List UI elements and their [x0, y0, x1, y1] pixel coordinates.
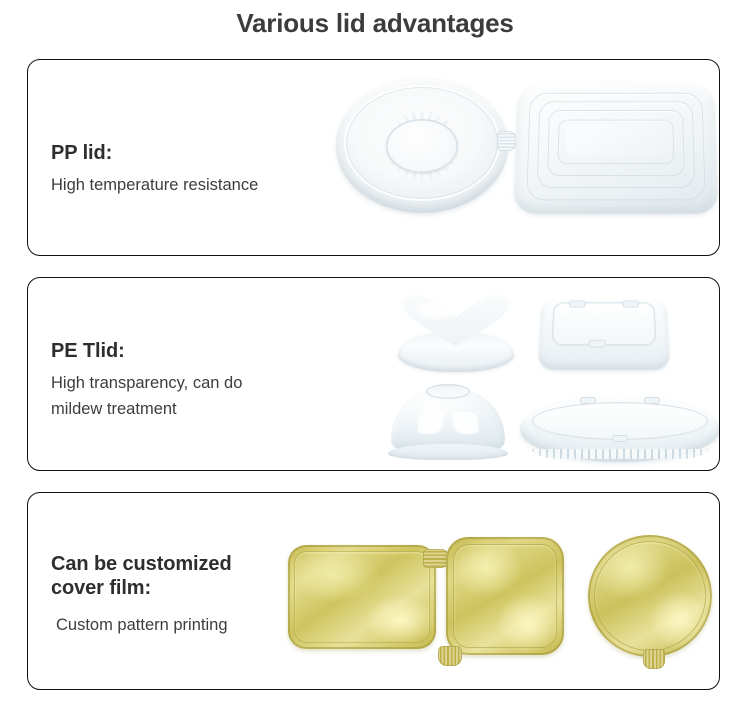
- heart-lid-highlight: [416, 302, 458, 318]
- page-title: Various lid advantages: [0, 8, 750, 39]
- card-pe-tlid: PE Tlid: High transparency, can do milde…: [27, 277, 720, 471]
- card-pp-lid-heading: PP lid:: [51, 142, 321, 166]
- gold-rect-bevel: [294, 551, 430, 643]
- oval-lid-skirt-ridges: [532, 449, 708, 459]
- card-pp-lid-body-line-1: High temperature resistance: [51, 172, 321, 199]
- card-cover-film-heading-line-2: cover film:: [51, 577, 151, 599]
- product-gold-round-cover: [588, 535, 712, 657]
- square-lid-notch-right: [622, 300, 639, 307]
- card-cover-film-text: Can be customized cover film: Custom pat…: [51, 553, 321, 639]
- card-pe-tlid-heading: PE Tlid:: [51, 340, 321, 364]
- card-pe-tlid-body-line-1: High transparency, can do: [51, 370, 321, 397]
- card-pp-lid-artwork: [288, 60, 719, 255]
- card-pe-tlid-text: PE Tlid: High transparency, can do milde…: [51, 340, 321, 423]
- card-cover-film-artwork: [288, 493, 719, 689]
- dome-lid-top-opening: [426, 384, 469, 399]
- round-lid-side-tab: [497, 131, 517, 151]
- card-cover-film: Can be customized cover film: Custom pat…: [27, 492, 720, 690]
- card-pp-lid: PP lid: High temperature resistance: [27, 59, 720, 256]
- card-pe-tlid-artwork: [288, 278, 719, 470]
- gold-square-pull-tab: [438, 646, 462, 666]
- rect-lid-shell: [513, 82, 718, 213]
- gold-round-bevel: [594, 541, 706, 651]
- product-round-ribbed-lid: [336, 78, 508, 213]
- square-lid-body: [538, 299, 671, 370]
- dome-lid-facet-left: [417, 412, 445, 434]
- gold-square-bevel: [453, 544, 557, 648]
- gold-round-pull-tab: [643, 649, 665, 669]
- product-square-lid: [540, 296, 668, 370]
- round-lid-center-hub: [386, 119, 458, 173]
- product-oval-flat-lid: [520, 396, 720, 462]
- product-dome-lid: [388, 388, 508, 460]
- oval-lid-notch-left: [580, 397, 596, 404]
- square-lid-notch-left: [569, 300, 586, 307]
- card-cover-film-body-line-1: Custom pattern printing: [51, 612, 321, 639]
- oval-lid-inner-panel: [532, 402, 708, 440]
- card-pp-lid-text: PP lid: High temperature resistance: [51, 142, 321, 198]
- dome-lid-foot: [388, 444, 508, 460]
- card-cover-film-heading-line-1: Can be customized: [51, 553, 232, 575]
- oval-lid-notch-front: [612, 435, 628, 442]
- product-heart-shaped-lid: [396, 294, 516, 372]
- square-lid-notch-front: [588, 340, 605, 348]
- dome-lid-facet-right: [451, 412, 479, 434]
- product-rectangular-lid: [516, 80, 716, 213]
- product-gold-rectangular-cover: [288, 545, 436, 649]
- rect-lid-center-panel: [566, 124, 666, 155]
- card-pe-tlid-body-line-2: mildew treatment: [51, 396, 321, 423]
- product-gold-square-cover: [446, 537, 564, 655]
- card-cover-film-heading: Can be customized cover film:: [51, 553, 321, 600]
- oval-lid-notch-right: [644, 397, 660, 404]
